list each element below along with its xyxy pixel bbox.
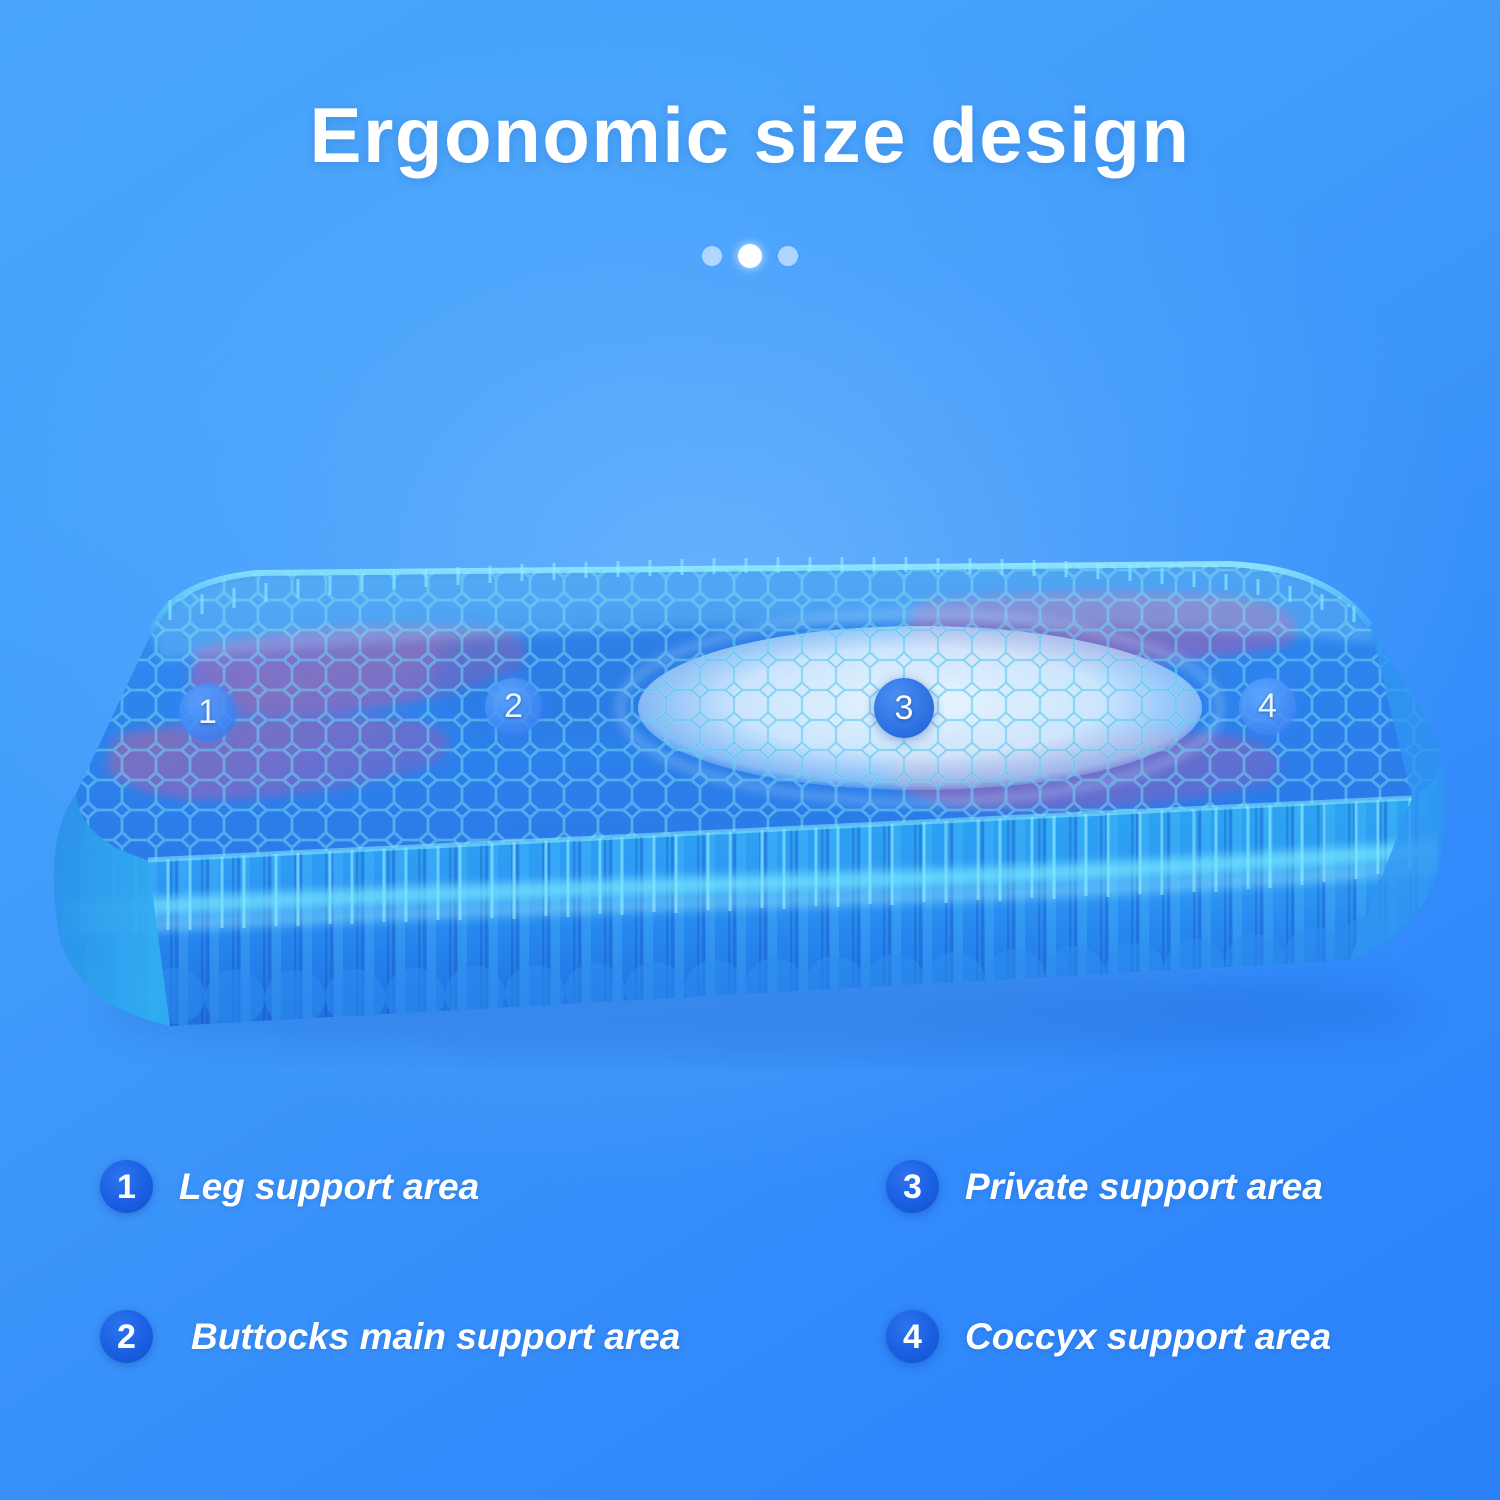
support-zone-legend: 1 Leg support area 3 Private support are…	[100, 1160, 1420, 1460]
legend-label-3: Private support area	[965, 1166, 1323, 1208]
legend-label-1: Leg support area	[179, 1166, 479, 1208]
carousel-dot-3[interactable]	[778, 246, 798, 266]
legend-label-4: Coccyx support area	[965, 1316, 1331, 1358]
infographic-page: Ergonomic size design	[0, 0, 1500, 1500]
legend-badge-2: 2	[100, 1310, 153, 1363]
legend-badge-1: 1	[100, 1160, 153, 1213]
cushion-marker-1[interactable]: 1	[179, 684, 236, 741]
carousel-dot-2[interactable]	[738, 244, 762, 268]
carousel-dot-1[interactable]	[702, 246, 722, 266]
carousel-dots	[0, 244, 1500, 268]
product-image-gel-cushion	[20, 540, 1480, 1070]
legend-item-1[interactable]: 1 Leg support area	[100, 1160, 880, 1213]
gel-cushion-illustration	[20, 540, 1480, 1070]
page-title: Ergonomic size design	[0, 96, 1500, 174]
legend-item-3[interactable]: 3 Private support area	[880, 1160, 1420, 1213]
legend-item-2[interactable]: 2 Buttocks main support area	[100, 1310, 880, 1363]
legend-badge-3: 3	[886, 1160, 939, 1213]
legend-label-2: Buttocks main support area	[191, 1316, 680, 1358]
cushion-marker-3[interactable]: 3	[874, 678, 934, 738]
legend-item-4[interactable]: 4 Coccyx support area	[880, 1310, 1420, 1363]
cushion-marker-2[interactable]: 2	[485, 678, 542, 735]
legend-badge-4: 4	[886, 1310, 939, 1363]
cushion-marker-4[interactable]: 4	[1239, 678, 1296, 735]
